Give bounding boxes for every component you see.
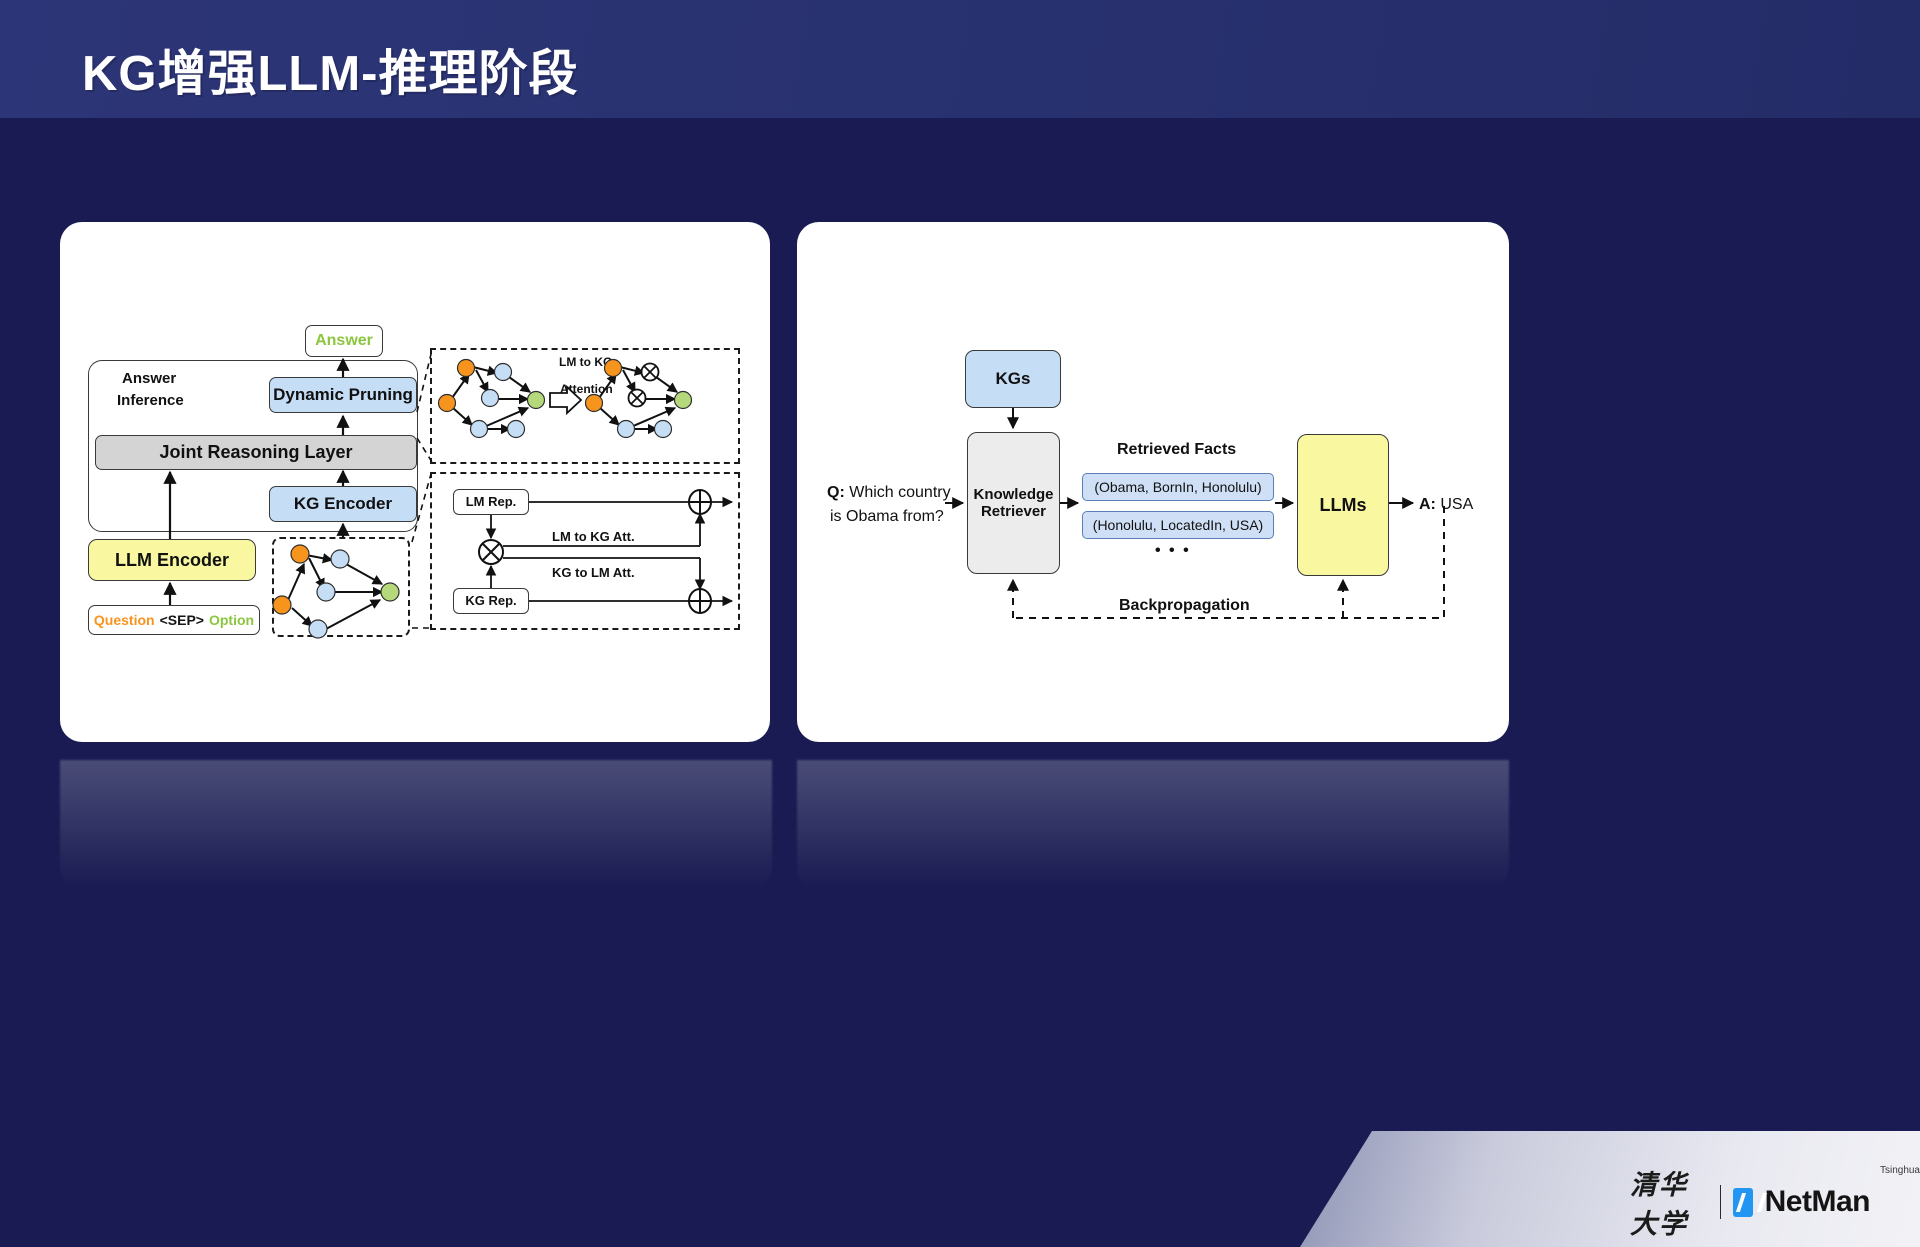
left-diagram-arrows (60, 222, 770, 742)
right-diagram-card: KGs Knowledge Retriever Q: Which country… (797, 222, 1509, 742)
logo-divider (1720, 1185, 1721, 1219)
tsinghua-university-logo: 清华大学 (1630, 1163, 1708, 1241)
pruned-node-icon (629, 390, 646, 407)
graph-node-blue (331, 550, 349, 568)
graph-node-orange (273, 596, 291, 614)
netman-mark-icon (1733, 1188, 1752, 1217)
right-diagram-arrows (797, 222, 1509, 742)
card-reflection-right (797, 760, 1509, 890)
page-title: KG增强LLM-推理阶段 (82, 34, 579, 105)
graph-node-blue (309, 620, 327, 638)
graph-node-green (381, 583, 399, 601)
graph-node-orange (291, 545, 309, 563)
card-reflection-left (60, 760, 772, 890)
netman-brand-sup-label: Tsinghua (1880, 1165, 1920, 1176)
netman-brand-label: NetMan (1765, 1185, 1870, 1219)
cross-operator-icon (479, 540, 503, 564)
plus-operator-icon (689, 490, 711, 514)
footer-logo-row: 清华大学 NetMan Tsinghua (1630, 1163, 1920, 1241)
transform-arrow-icon (550, 387, 581, 413)
graph-node-blue (317, 583, 335, 601)
left-diagram-card: Answer Answer Inference Dynamic Pruning … (60, 222, 770, 742)
plus-operator-icon (689, 589, 711, 613)
slide-background: KG增强LLM-推理阶段 Answer Answer Inference Dyn… (0, 0, 1920, 1247)
pruned-node-icon (642, 364, 659, 381)
